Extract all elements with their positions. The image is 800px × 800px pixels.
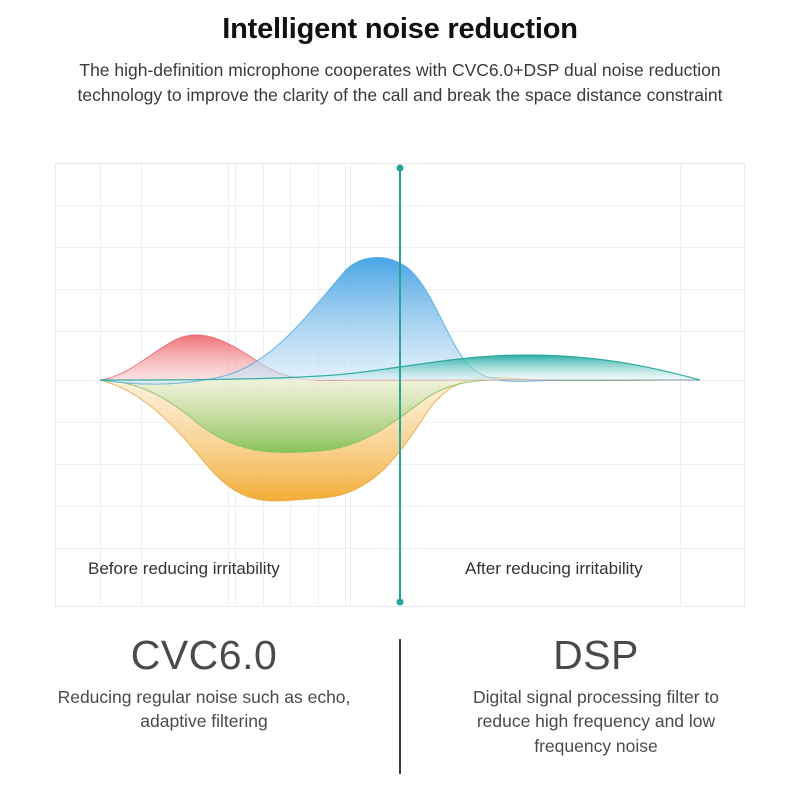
chart-label-after: After reducing irritability <box>465 559 643 579</box>
feature-dsp: DSP Digital signal processing filter to … <box>401 625 791 758</box>
page-title: Intelligent noise reduction <box>0 14 800 46</box>
page-subtitle: The high-definition microphone cooperate… <box>35 58 765 109</box>
feature-cvc: CVC6.0 Reducing regular noise such as ec… <box>9 625 399 734</box>
chart-canvas <box>55 163 745 607</box>
feature-cvc-description: Reducing regular noise such as echo, ada… <box>54 685 354 734</box>
feature-row: CVC6.0 Reducing regular noise such as ec… <box>0 625 800 800</box>
noise-reduction-chart: Before reducing irritability After reduc… <box>55 163 745 607</box>
header: Intelligent noise reduction The high-def… <box>0 0 800 109</box>
feature-dsp-description: Digital signal processing filter to redu… <box>446 685 746 759</box>
feature-cvc-title: CVC6.0 <box>9 633 399 679</box>
chart-label-before: Before reducing irritability <box>88 559 280 579</box>
marker-dot-bottom <box>397 599 404 606</box>
feature-dsp-title: DSP <box>401 633 791 679</box>
marker-dot-top <box>397 165 404 172</box>
